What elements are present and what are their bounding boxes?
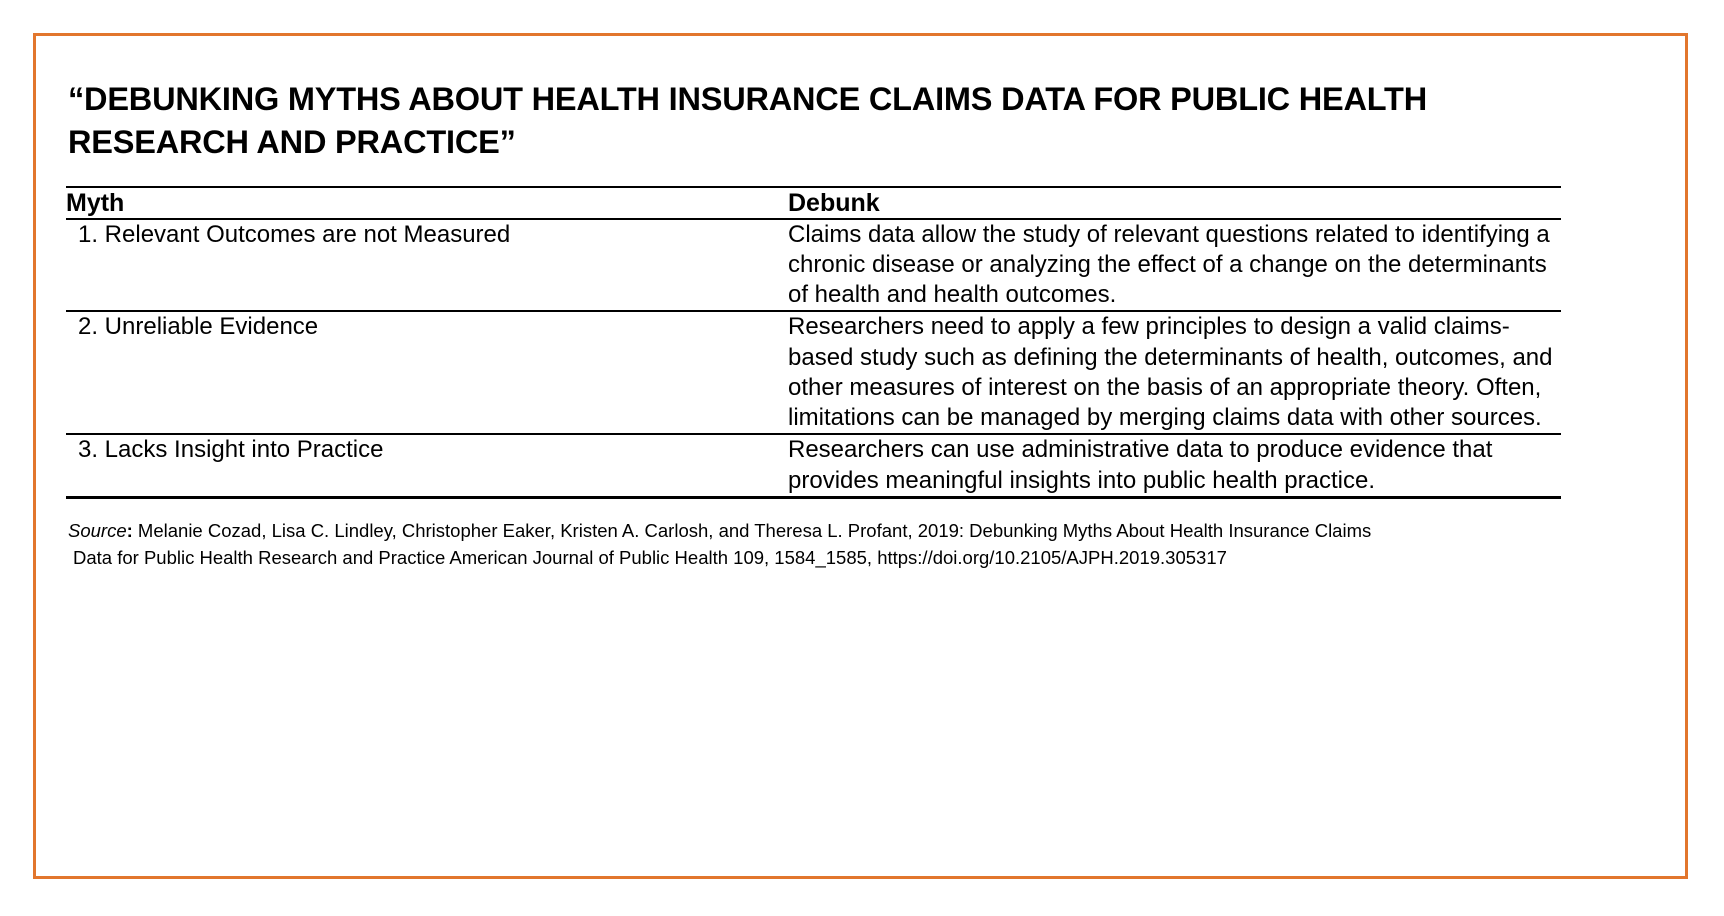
source-line-1: Melanie Cozad, Lisa C. Lindley, Christop… [133, 520, 1371, 541]
cell-myth-3: 3. Lacks Insight into Practice [66, 434, 778, 497]
column-header-myth: Myth [66, 187, 778, 219]
cell-debunk-2: Researchers need to apply a few principl… [778, 311, 1561, 434]
myth-debunk-table: Myth Debunk 1. Relevant Outcomes are not… [66, 186, 1561, 499]
column-header-debunk: Debunk [778, 187, 1561, 219]
cell-debunk-1: Claims data allow the study of relevant … [778, 219, 1561, 312]
table-body: 1. Relevant Outcomes are not Measured Cl… [66, 219, 1561, 498]
table-header-row: Myth Debunk [66, 187, 1561, 219]
table-header: Myth Debunk [66, 187, 1561, 219]
table-bottom-rule-row [66, 497, 1561, 499]
table-row: 1. Relevant Outcomes are not Measured Cl… [66, 219, 1561, 312]
slide-frame: “DEBUNKING MYTHS ABOUT HEALTH INSURANCE … [33, 33, 1688, 879]
slide-content: “DEBUNKING MYTHS ABOUT HEALTH INSURANCE … [66, 56, 1663, 866]
table-footer-rule [66, 497, 1561, 499]
cell-myth-1: 1. Relevant Outcomes are not Measured [66, 219, 778, 312]
table-row: 2. Unreliable Evidence Researchers need … [66, 311, 1561, 434]
cell-debunk-3: Researchers can use administrative data … [778, 434, 1561, 497]
bottom-rule-right [778, 497, 1561, 499]
source-line-2: Data for Public Health Research and Prac… [68, 544, 1528, 571]
bottom-rule-left [66, 497, 778, 499]
table-row: 3. Lacks Insight into Practice Researche… [66, 434, 1561, 497]
source-label: Source [68, 520, 127, 541]
source-citation: Source: Melanie Cozad, Lisa C. Lindley, … [66, 517, 1528, 571]
cell-myth-2: 2. Unreliable Evidence [66, 311, 778, 434]
page-title: “DEBUNKING MYTHS ABOUT HEALTH INSURANCE … [68, 78, 1488, 164]
